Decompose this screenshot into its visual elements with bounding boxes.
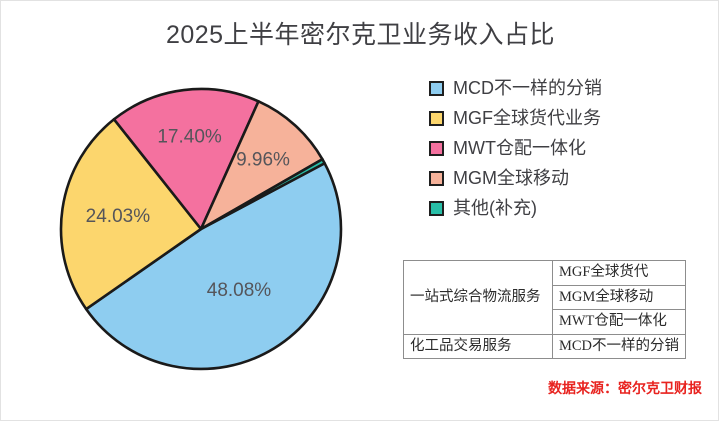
legend-item[interactable]: MGF全球货代业务 (429, 107, 602, 129)
source-note: 数据来源：密尔克卫财报 (548, 378, 702, 398)
table-cell-business: MGF全球货代 (552, 261, 685, 286)
pie-slice-label: 17.40% (157, 126, 222, 147)
legend-item-label: MGM全球移动 (453, 169, 569, 187)
legend-item-label: MCD不一样的分销 (453, 79, 602, 97)
table-row: 化工品交易服务MCD不一样的分销 (404, 334, 686, 359)
pie-slice-label: 9.96% (236, 150, 290, 171)
table-row: 一站式综合物流服务MGF全球货代 (404, 261, 686, 286)
table-cell-category: 化工品交易服务 (404, 334, 553, 359)
legend-item-label: MWT仓配一体化 (453, 139, 586, 157)
legend-color-swatch (429, 171, 444, 186)
pie-slice-label: 48.08% (207, 280, 272, 301)
table-cell-category: 一站式综合物流服务 (404, 261, 553, 335)
legend-item[interactable]: 其他(补充) (429, 197, 602, 219)
pie-chart: 48.08%24.03%17.40%9.96%0.53% (49, 79, 349, 379)
pie-chart-svg: 48.08%24.03%17.40%9.96%0.53% (49, 79, 349, 379)
page-title: 2025上半年密尔克卫业务收入占比 (1, 15, 719, 51)
legend-color-swatch (429, 201, 444, 216)
business-mapping-table: 一站式综合物流服务MGF全球货代MGM全球移动MWT仓配一体化化工品交易服务MC… (403, 260, 686, 359)
legend-color-swatch (429, 81, 444, 96)
pie-slice-label: 24.03% (86, 206, 151, 227)
legend-color-swatch (429, 141, 444, 156)
table-cell-business: MWT仓配一体化 (552, 310, 685, 335)
table-cell-business: MGM全球移动 (552, 285, 685, 310)
table-cell-business: MCD不一样的分销 (552, 334, 685, 359)
legend-item-label: MGF全球货代业务 (453, 109, 601, 127)
chart-canvas: 2025上半年密尔克卫业务收入占比 48.08%24.03%17.40%9.96… (0, 0, 719, 421)
legend-item-label: 其他(补充) (453, 199, 537, 217)
legend-item[interactable]: MGM全球移动 (429, 167, 602, 189)
legend-item[interactable]: MCD不一样的分销 (429, 77, 602, 99)
legend-color-swatch (429, 111, 444, 126)
legend-item[interactable]: MWT仓配一体化 (429, 137, 602, 159)
chart-legend: MCD不一样的分销MGF全球货代业务MWT仓配一体化MGM全球移动其他(补充) (429, 77, 602, 219)
